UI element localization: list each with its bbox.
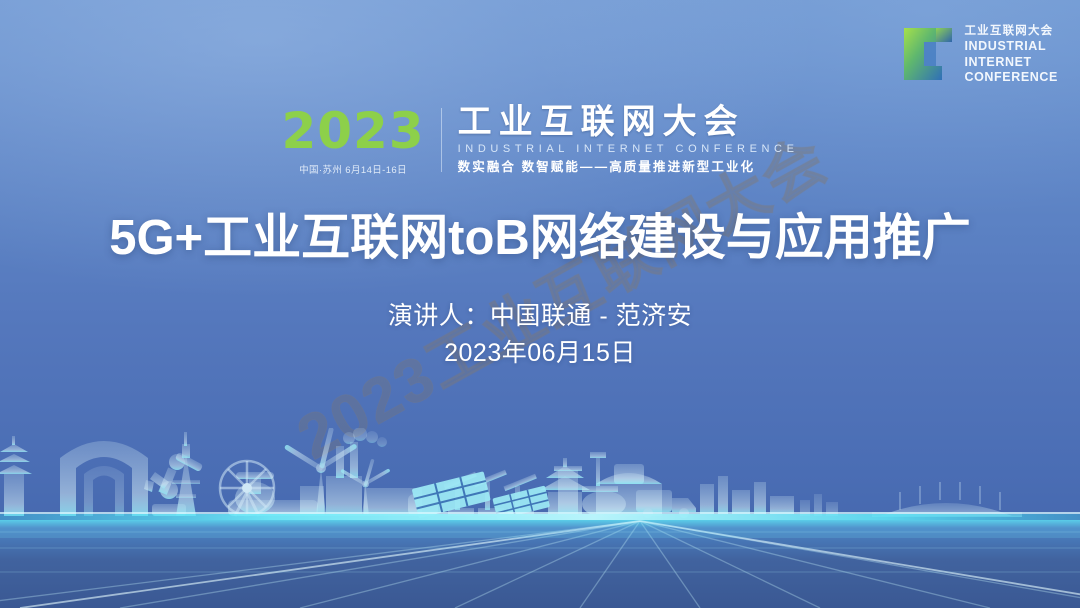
page-title: 5G+工业互联网toB网络建设与应用推广	[0, 207, 1080, 269]
corner-logo-en-line1: INDUSTRIAL	[964, 39, 1058, 55]
presentation-date: 2023年06月15日	[0, 336, 1080, 370]
corner-logo-en-line2: INTERNET	[964, 55, 1058, 71]
pagoda-icon	[0, 436, 32, 516]
corner-logo-text: 工业互联网大会 INDUSTRIAL INTERNET CONFERENCE	[964, 22, 1058, 86]
corner-logo-en-line3: CONFERENCE	[964, 70, 1058, 86]
horizon-glow-line	[0, 514, 1080, 521]
city-industry-skyline	[0, 428, 1080, 608]
lockup-place-date: 中国·苏州 6月14日-16日	[299, 162, 407, 176]
lockup-left: 2023 中国·苏州 6月14日-16日	[281, 104, 424, 176]
lockup-divider	[441, 108, 442, 172]
conference-lockup: 2023 中国·苏州 6月14日-16日 工业互联网大会 INDUSTRIAL …	[0, 104, 1080, 176]
lockup-slogan: 数实融合 数智赋能——高质量推进新型工业化	[458, 159, 799, 176]
bridge-icon	[872, 482, 1022, 517]
truck-icon	[636, 476, 794, 518]
gate-of-the-orient-icon	[60, 441, 148, 516]
speaker-line: 演讲人：中国联通 - 范济安	[0, 299, 1080, 333]
lockup-right: 工业互联网大会 INDUSTRIAL INTERNET CONFERENCE 数…	[458, 104, 799, 176]
corner-logo-cn-name: 工业互联网大会	[964, 24, 1058, 39]
presentation-slide: 2023工业互联网大会	[0, 0, 1080, 608]
lockup-title-cn: 工业互联网大会	[458, 104, 799, 141]
conference-corner-logo: 工业互联网大会 INDUSTRIAL INTERNET CONFERENCE	[902, 22, 1058, 86]
lockup-title-en: INDUSTRIAL INTERNET CONFERENCE	[458, 142, 799, 156]
ferris-wheel-icon	[220, 461, 274, 516]
industrial-internet-t-mark-icon	[902, 22, 954, 82]
lockup-year: 2023	[281, 106, 424, 156]
tv-tower-icon	[172, 432, 200, 516]
